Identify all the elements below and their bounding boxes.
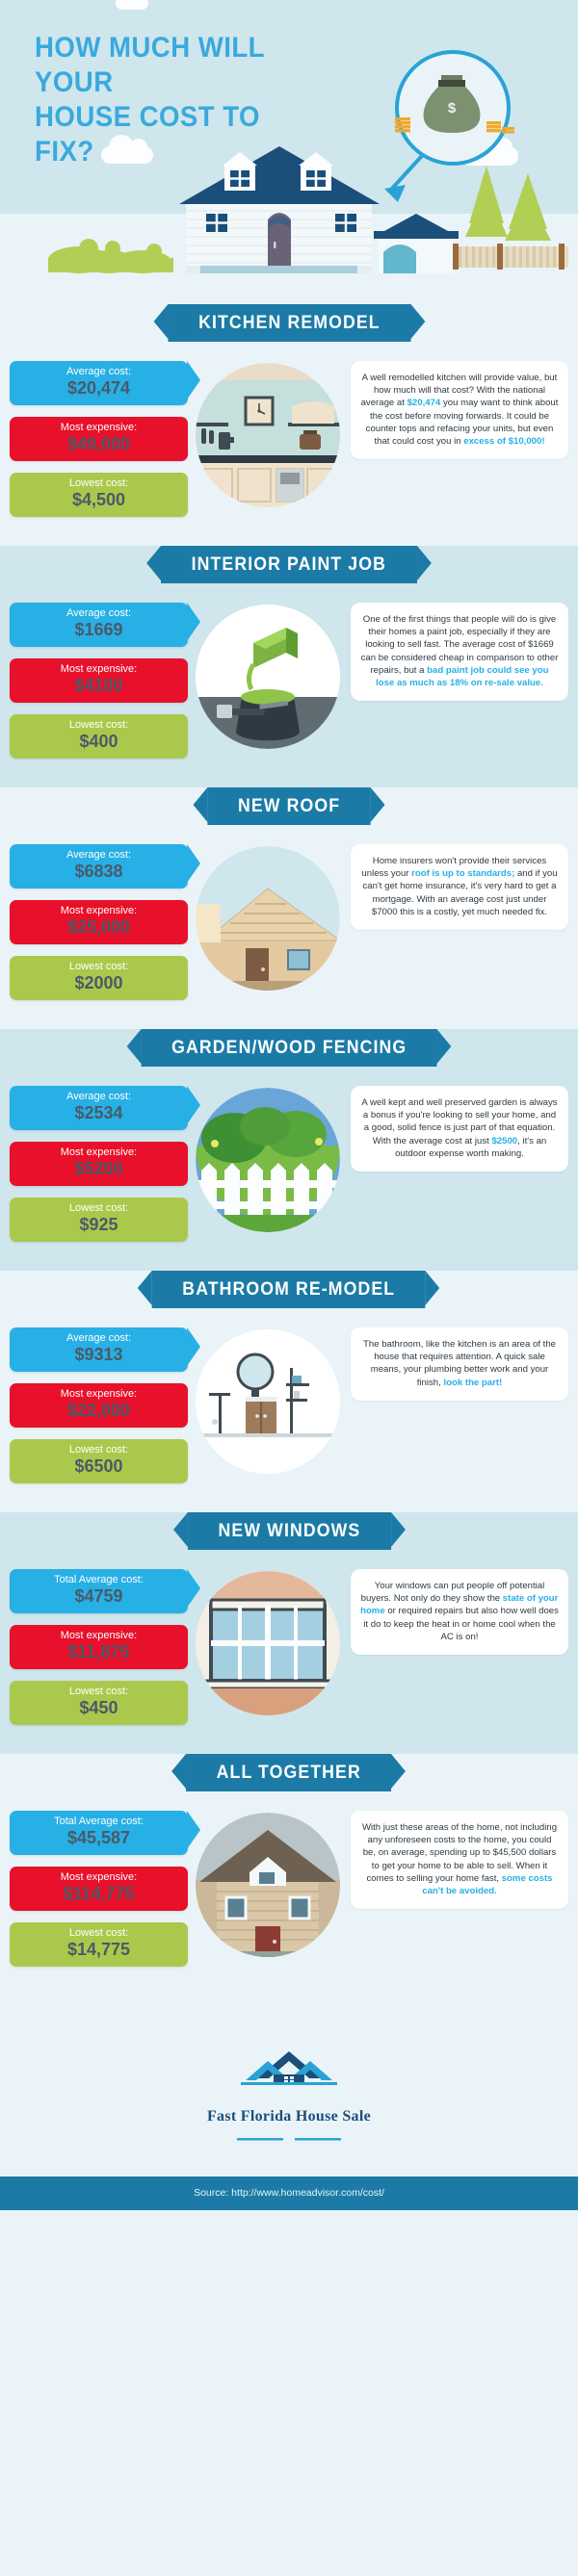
average-cost-tag-label: Total Average cost: <box>19 1816 178 1828</box>
most-expensive-cost-tag-value: $22,000 <box>19 1401 178 1421</box>
section-body: Total Average cost:$4759Most expensive:$… <box>0 1550 578 1754</box>
lowest-cost-tag-label: Lowest cost: <box>19 961 178 973</box>
lowest-cost-tag-value: $14,775 <box>19 1940 178 1960</box>
most-expensive-cost-tag-label: Most expensive: <box>19 663 178 676</box>
section-description-new-roof: Home insurers won't provide their servic… <box>351 844 568 930</box>
average-cost-tag-value: $6838 <box>19 862 178 882</box>
average-cost-tag-value: $9313 <box>19 1345 178 1365</box>
new-windows-illustration-icon <box>196 1571 340 1715</box>
average-cost-tag-label: Average cost: <box>19 849 178 862</box>
most-expensive-cost-tag-value: $11,875 <box>19 1642 178 1662</box>
most-expensive-cost-tag-value: $114,775 <box>19 1884 178 1904</box>
footer-logo: Fast Florida House Sale <box>0 1996 578 2177</box>
section-description-garden-wood-fencing: A well kept and well preserved garden is… <box>351 1086 568 1172</box>
description-highlight: $20,474 <box>407 398 441 408</box>
lowest-cost-tag: Lowest cost:$6500 <box>10 1439 188 1483</box>
section-banner-bathroom-re-model: BATHROOM RE-MODEL <box>152 1271 426 1308</box>
section-body: Average cost:$6838Most expensive:$25,000… <box>0 825 578 1029</box>
section-body: Total Average cost:$45,587Most expensive… <box>0 1791 578 1996</box>
average-cost-tag: Total Average cost:$4759 <box>10 1569 188 1613</box>
section-interior-paint-job: INTERIOR PAINT JOBAverage cost:$1669Most… <box>0 546 578 787</box>
average-cost-tag: Average cost:$20,474 <box>10 361 188 405</box>
cost-tag-group: Average cost:$6838Most expensive:$25,000… <box>10 840 188 1012</box>
section-bathroom-re-model: BATHROOM RE-MODELAverage cost:$9313Most … <box>0 1271 578 1512</box>
lowest-cost-tag: Lowest cost:$450 <box>10 1681 188 1725</box>
lowest-cost-tag-label: Lowest cost: <box>19 1444 178 1456</box>
lowest-cost-tag-value: $4,500 <box>19 490 178 510</box>
lowest-cost-tag-value: $2000 <box>19 973 178 993</box>
average-cost-tag: Total Average cost:$45,587 <box>10 1811 188 1855</box>
section-body: Average cost:$9313Most expensive:$22,000… <box>0 1308 578 1512</box>
section-body: Average cost:$2534Most expensive:$5200Lo… <box>0 1067 578 1271</box>
section-banner-wrap: GARDEN/WOOD FENCING <box>0 1029 578 1067</box>
lowest-cost-tag-value: $400 <box>19 732 178 752</box>
average-cost-tag-label: Average cost: <box>19 1091 178 1103</box>
section-banner-new-roof: NEW ROOF <box>207 787 370 825</box>
section-banner-kitchen-remodel: KITCHEN REMODEL <box>168 304 410 342</box>
description-text: or required repairs but also how well do… <box>363 1606 559 1641</box>
infographic-page: HOW MUCH WILL YOUR HOUSE COST TO FIX? $ <box>0 0 578 2576</box>
cost-tag-group: Total Average cost:$4759Most expensive:$… <box>10 1565 188 1737</box>
all-together-illustration-icon <box>196 1813 340 1957</box>
most-expensive-cost-tag-label: Most expensive: <box>19 1871 178 1884</box>
description-highlight: excess of $10,000! <box>463 436 544 447</box>
cost-tag-group: Total Average cost:$45,587Most expensive… <box>10 1807 188 1978</box>
cost-tag-group: Average cost:$1669Most expensive:$4100Lo… <box>10 599 188 770</box>
lowest-cost-tag: Lowest cost:$925 <box>10 1198 188 1242</box>
most-expensive-cost-tag: Most expensive:$4100 <box>10 658 188 703</box>
logo-underline <box>0 2130 578 2148</box>
section-description-interior-paint-job: One of the first things that people will… <box>351 603 568 701</box>
most-expensive-cost-tag-label: Most expensive: <box>19 905 178 917</box>
svg-text:$: $ <box>448 100 457 116</box>
average-cost-tag: Average cost:$1669 <box>10 603 188 647</box>
most-expensive-cost-tag: Most expensive:$5200 <box>10 1142 188 1186</box>
section-banner-interior-paint-job: INTERIOR PAINT JOB <box>161 546 417 583</box>
section-illustration-new-windows <box>188 1565 347 1715</box>
dormer-window <box>299 152 333 191</box>
lowest-cost-tag: Lowest cost:$14,775 <box>10 1922 188 1967</box>
lowest-cost-tag-label: Lowest cost: <box>19 477 178 490</box>
cost-tag-group: Average cost:$9313Most expensive:$22,000… <box>10 1324 188 1495</box>
lowest-cost-tag-value: $925 <box>19 1215 178 1235</box>
most-expensive-cost-tag-label: Most expensive: <box>19 1630 178 1642</box>
most-expensive-cost-tag: Most expensive:$11,875 <box>10 1625 188 1669</box>
description-highlight: look the part! <box>443 1378 502 1388</box>
most-expensive-cost-tag-label: Most expensive: <box>19 1146 178 1159</box>
average-cost-tag-label: Average cost: <box>19 366 178 378</box>
source-bar: Source: http://www.homeadvisor.com/cost/ <box>0 2177 578 2210</box>
most-expensive-cost-tag: Most expensive:$25,000 <box>10 900 188 944</box>
cost-tag-group: Average cost:$20,474Most expensive:$49,0… <box>10 357 188 528</box>
section-description-new-windows: Your windows can put people off potentia… <box>351 1569 568 1655</box>
section-banner-all-together: ALL TOGETHER <box>186 1754 391 1791</box>
picket-fence-icon <box>453 244 568 270</box>
most-expensive-cost-tag: Most expensive:$49,000 <box>10 417 188 461</box>
sections-container: KITCHEN REMODELAverage cost:$20,474Most … <box>0 304 578 1996</box>
section-garden-wood-fencing: GARDEN/WOOD FENCINGAverage cost:$2534Mos… <box>0 1029 578 1271</box>
lowest-cost-tag-label: Lowest cost: <box>19 1927 178 1940</box>
section-new-roof: NEW ROOFAverage cost:$6838Most expensive… <box>0 787 578 1029</box>
logo-name: Fast Florida House Sale <box>0 2108 578 2125</box>
section-illustration-garden-wood-fencing <box>188 1082 347 1232</box>
section-new-windows: NEW WINDOWSTotal Average cost:$4759Most … <box>0 1512 578 1754</box>
average-cost-tag-value: $4759 <box>19 1586 178 1607</box>
average-cost-tag-value: $1669 <box>19 620 178 640</box>
average-cost-tag: Average cost:$9313 <box>10 1327 188 1372</box>
most-expensive-cost-tag-value: $25,000 <box>19 917 178 938</box>
average-cost-tag-label: Average cost: <box>19 1332 178 1345</box>
average-cost-tag-value: $45,587 <box>19 1828 178 1848</box>
bathroom-re-model-illustration-icon <box>196 1329 340 1474</box>
dormer-window <box>223 152 257 191</box>
lowest-cost-tag-label: Lowest cost: <box>19 719 178 732</box>
section-description-bathroom-re-model: The bathroom, like the kitchen is an are… <box>351 1327 568 1401</box>
cost-tag-group: Average cost:$2534Most expensive:$5200Lo… <box>10 1082 188 1253</box>
section-banner-new-windows: NEW WINDOWS <box>188 1512 391 1550</box>
house-window <box>335 214 356 232</box>
new-roof-illustration-icon <box>196 846 340 991</box>
section-body: Average cost:$1669Most expensive:$4100Lo… <box>0 583 578 787</box>
average-cost-tag-label: Average cost: <box>19 607 178 620</box>
section-illustration-kitchen-remodel <box>188 357 347 507</box>
section-illustration-bathroom-re-model <box>188 1324 347 1474</box>
average-cost-tag: Average cost:$6838 <box>10 844 188 889</box>
most-expensive-cost-tag-value: $5200 <box>19 1159 178 1179</box>
section-illustration-interior-paint-job <box>188 599 347 749</box>
lowest-cost-tag-value: $450 <box>19 1698 178 1718</box>
garden-wood-fencing-illustration-icon <box>196 1088 340 1232</box>
most-expensive-cost-tag: Most expensive:$114,775 <box>10 1867 188 1911</box>
hero-illustration: $ <box>0 0 578 304</box>
most-expensive-cost-tag: Most expensive:$22,000 <box>10 1383 188 1428</box>
lowest-cost-tag: Lowest cost:$2000 <box>10 956 188 1000</box>
house-illustration <box>179 146 459 273</box>
fast-florida-house-sale-logo-icon <box>193 2046 385 2099</box>
section-banner-wrap: NEW ROOF <box>0 787 578 825</box>
average-cost-tag-label: Total Average cost: <box>19 1574 178 1586</box>
section-illustration-all-together <box>188 1807 347 1957</box>
lowest-cost-tag: Lowest cost:$4,500 <box>10 473 188 517</box>
description-highlight: $2500 <box>491 1136 517 1146</box>
section-all-together: ALL TOGETHERTotal Average cost:$45,587Mo… <box>0 1754 578 1996</box>
average-cost-tag-value: $2534 <box>19 1103 178 1123</box>
section-banner-wrap: KITCHEN REMODEL <box>0 304 578 342</box>
average-cost-tag-value: $20,474 <box>19 378 178 399</box>
most-expensive-cost-tag-label: Most expensive: <box>19 422 178 434</box>
house-window <box>206 214 227 232</box>
section-description-all-together: With just these areas of the home, not i… <box>351 1811 568 1909</box>
section-banner-wrap: NEW WINDOWS <box>0 1512 578 1550</box>
lowest-cost-tag-label: Lowest cost: <box>19 1202 178 1215</box>
interior-paint-job-illustration-icon <box>196 605 340 749</box>
section-illustration-new-roof <box>188 840 347 991</box>
section-banner-wrap: INTERIOR PAINT JOB <box>0 546 578 583</box>
average-cost-tag: Average cost:$2534 <box>10 1086 188 1130</box>
section-body: Average cost:$20,474Most expensive:$49,0… <box>0 342 578 546</box>
kitchen-remodel-illustration-icon <box>196 363 340 507</box>
section-kitchen-remodel: KITCHEN REMODELAverage cost:$20,474Most … <box>0 304 578 546</box>
most-expensive-cost-tag-value: $49,000 <box>19 434 178 454</box>
section-banner-garden-wood-fencing: GARDEN/WOOD FENCING <box>141 1029 436 1067</box>
lowest-cost-tag-label: Lowest cost: <box>19 1686 178 1698</box>
section-banner-wrap: BATHROOM RE-MODEL <box>0 1271 578 1308</box>
section-description-kitchen-remodel: A well remodelled kitchen will provide v… <box>351 361 568 459</box>
description-highlight: roof is up to standards; <box>411 868 514 879</box>
section-banner-wrap: ALL TOGETHER <box>0 1754 578 1791</box>
most-expensive-cost-tag-value: $4100 <box>19 676 178 696</box>
most-expensive-cost-tag-label: Most expensive: <box>19 1388 178 1401</box>
hero-header: HOW MUCH WILL YOUR HOUSE COST TO FIX? $ <box>0 0 578 304</box>
lowest-cost-tag-value: $6500 <box>19 1456 178 1477</box>
lowest-cost-tag: Lowest cost:$400 <box>10 714 188 759</box>
